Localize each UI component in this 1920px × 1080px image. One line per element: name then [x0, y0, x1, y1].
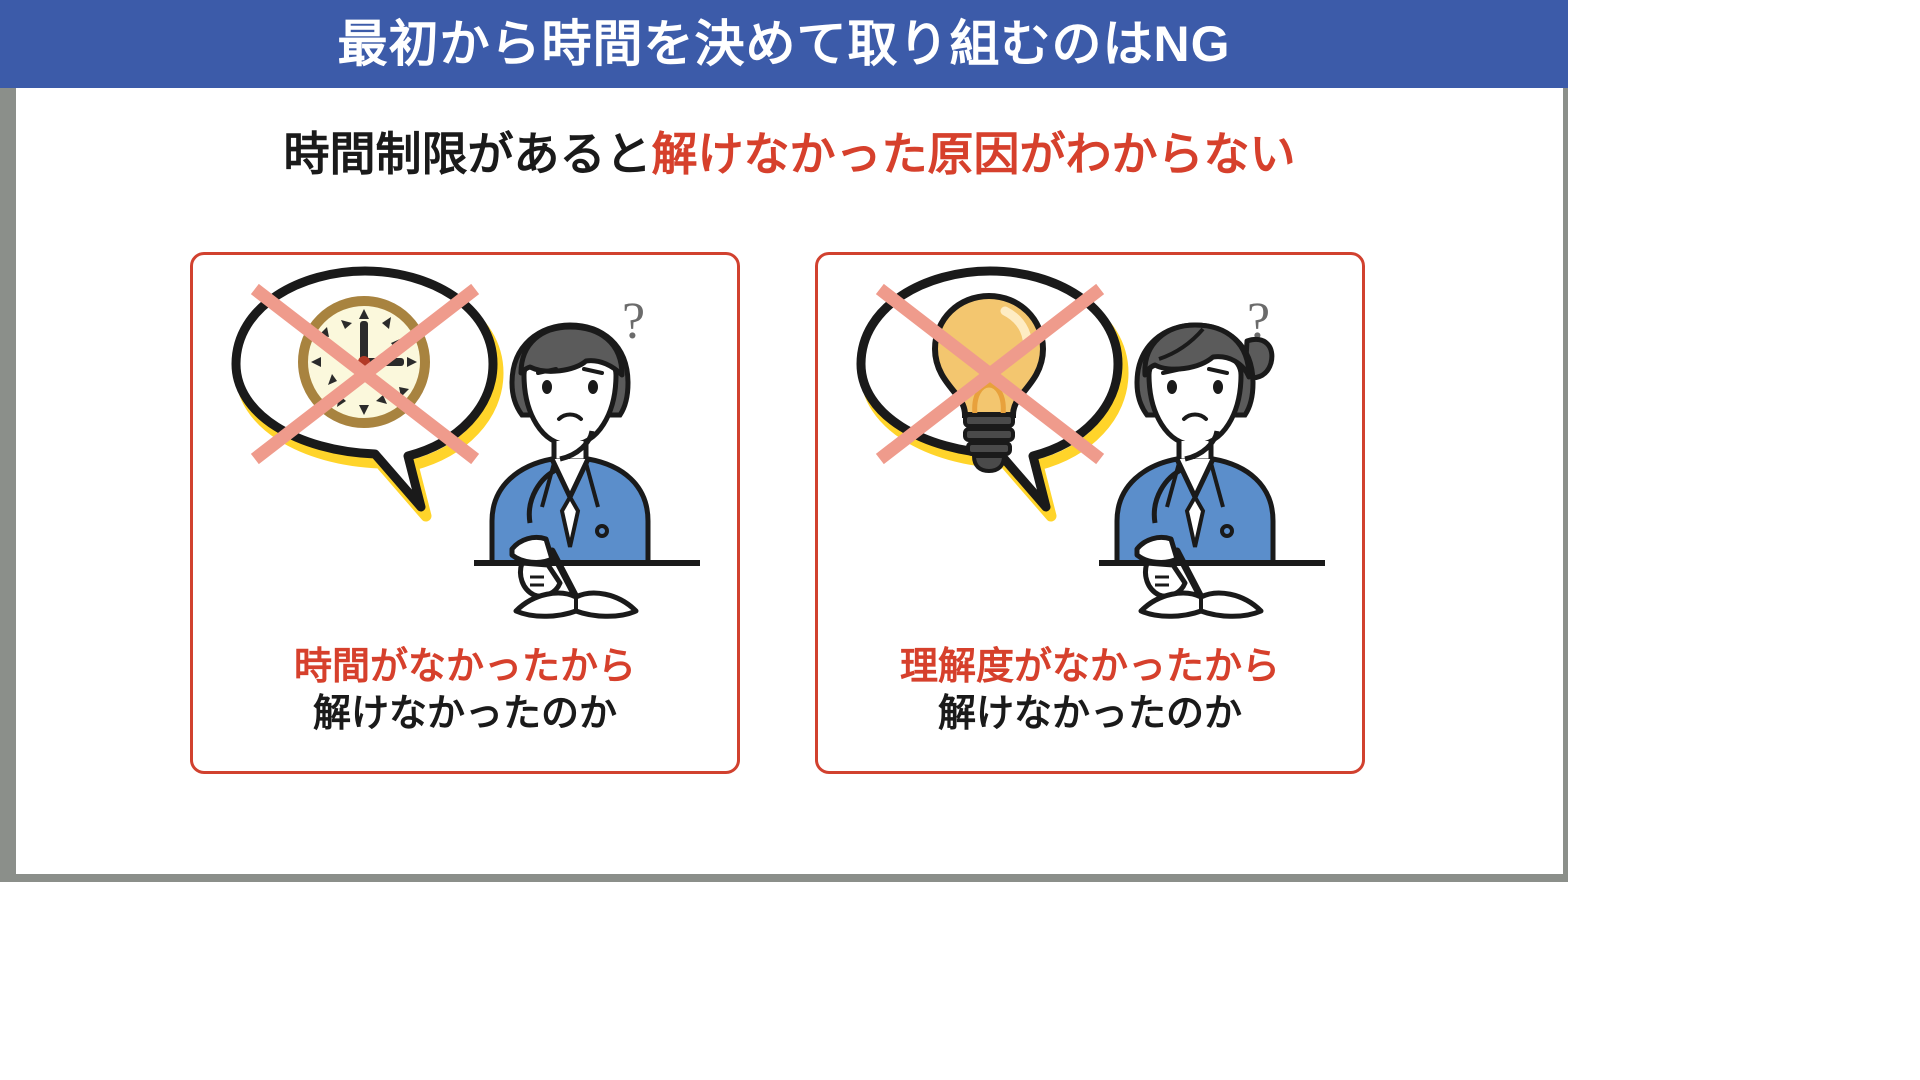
- slide-root: 最初から時間を決めて取り組むのはNG 時間制限があると解けなかった原因がわからな…: [0, 0, 1568, 882]
- frame-right-strip: [1563, 88, 1568, 882]
- illustration-understanding: ?: [818, 263, 1362, 633]
- header-title: 最初から時間を決めて取り組むのはNG: [338, 19, 1231, 69]
- card-time-caption-line2: 解けなかったのか: [193, 691, 737, 737]
- card-time: ?: [190, 252, 740, 774]
- subtitle-black-part: 時間制限があると: [284, 128, 652, 180]
- crossed-out-clock-and-boy-illustration: ?: [230, 263, 700, 623]
- thinking-girl-icon: [1099, 325, 1325, 616]
- card-time-caption-line1: 時間がなかったから: [193, 644, 737, 690]
- question-mark-icon: ?: [622, 293, 645, 350]
- illustration-time: ?: [193, 263, 737, 633]
- subtitle-red-part: 解けなかった原因がわからない: [652, 128, 1296, 180]
- card-understanding-caption-line1: 理解度がなかったから: [818, 644, 1362, 690]
- thinking-boy-icon: [474, 325, 700, 616]
- card-understanding-caption: 理解度がなかったから 解けなかったのか: [818, 644, 1362, 737]
- card-time-caption: 時間がなかったから 解けなかったのか: [193, 644, 737, 737]
- frame-left-strip: [0, 88, 16, 882]
- crossed-out-lightbulb-and-girl-illustration: ?: [855, 263, 1325, 623]
- slide-header: 最初から時間を決めて取り組むのはNG: [0, 0, 1568, 88]
- frame-bottom-strip: [0, 874, 1568, 882]
- card-understanding-caption-line2: 解けなかったのか: [818, 691, 1362, 737]
- subtitle: 時間制限があると解けなかった原因がわからない: [16, 128, 1563, 181]
- card-understanding: ?: [815, 252, 1365, 774]
